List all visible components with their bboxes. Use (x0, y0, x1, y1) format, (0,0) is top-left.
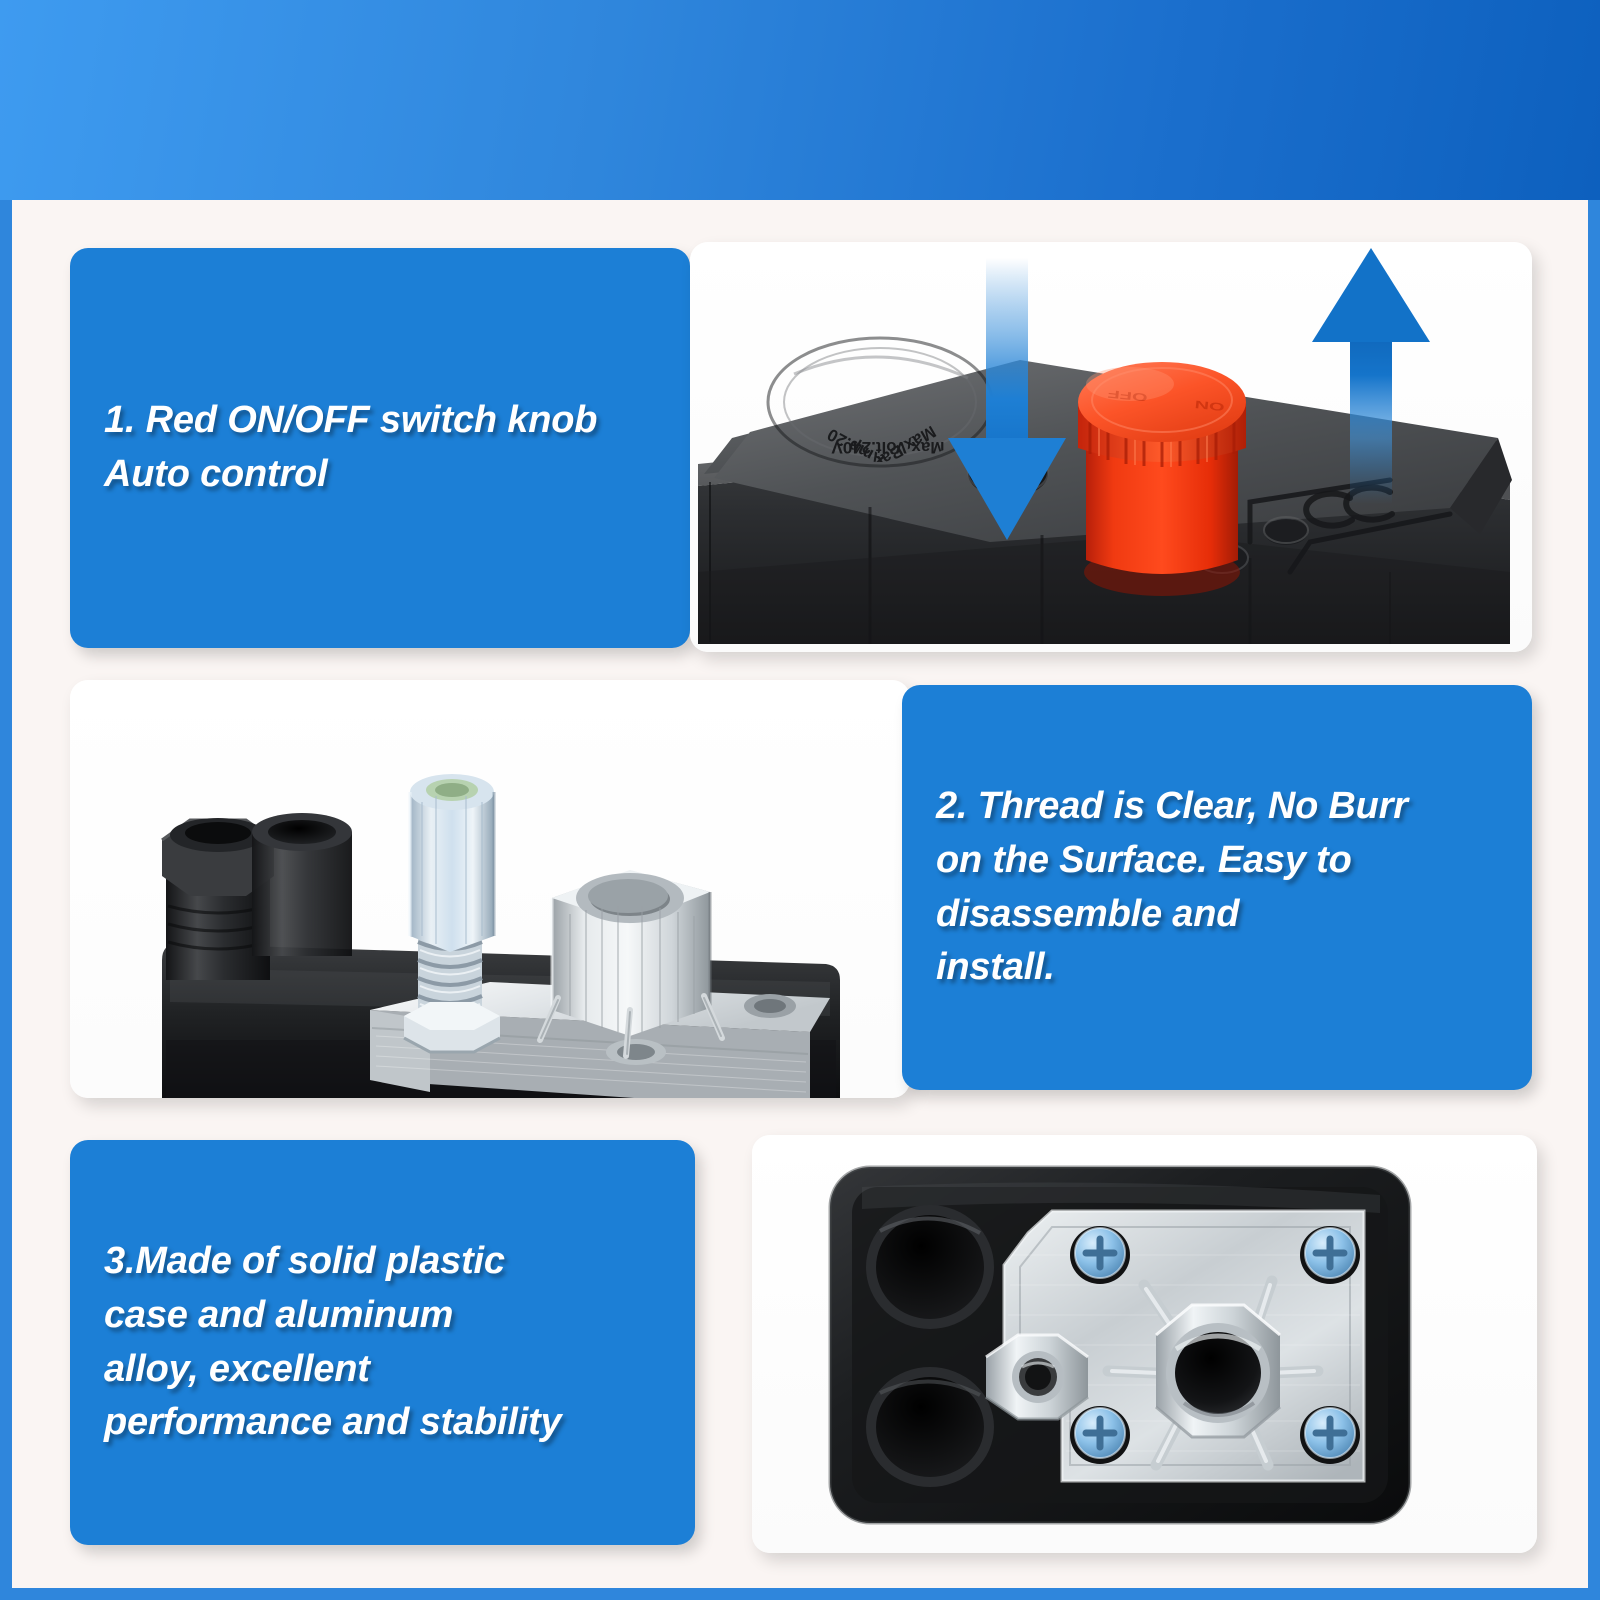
feature-row-3: 3.Made of solid plastic case and aluminu… (12, 1130, 1588, 1550)
phillips-screw-bottom-left (1070, 1406, 1130, 1464)
content-canvas: 1. Red ON/OFF switch knob Auto control (12, 200, 1588, 1588)
feature-callout-1-text: 1. Red ON/OFF switch knob Auto control (70, 394, 631, 502)
bottom-view-photo (752, 1135, 1537, 1553)
phillips-screw-bottom-right (1300, 1406, 1360, 1464)
cable-gland-hole-top (866, 1205, 994, 1329)
hex-nut (986, 1335, 1088, 1419)
feature-callout-2: 2. Thread is Clear, No Burr on the Surfa… (902, 685, 1532, 1090)
phillips-screw-top-left (1070, 1226, 1130, 1284)
threaded-bolt (404, 774, 500, 1052)
page-header: PRODUCT FEATURE ANALYSIS (0, 0, 1600, 200)
cable-gland-hole-bottom (866, 1367, 994, 1487)
feature-row-2: 2. Thread is Clear, No Burr on the Surfa… (12, 675, 1588, 1100)
page-title: PRODUCT FEATURE ANALYSIS (0, 48, 1600, 152)
red-onoff-knob: OFF ON (1078, 362, 1246, 596)
infographic-page: PRODUCT FEATURE ANALYSIS 1. Red ON/OFF s… (0, 0, 1600, 1600)
thread-detail-photo (70, 680, 910, 1098)
page-title-text: PRODUCT FEATURE ANALYSIS (90, 48, 1510, 152)
feature-callout-2-text: 2. Thread is Clear, No Burr on the Surfa… (902, 780, 1442, 996)
phillips-screw-top-right (1300, 1226, 1360, 1284)
red-onoff-knob-photo: Max.Volt.240V Amp.20 Max.Bar (690, 242, 1532, 652)
feature-callout-1: 1. Red ON/OFF switch knob Auto control (70, 248, 690, 648)
feature-callout-3-text: 3.Made of solid plastic case and aluminu… (70, 1235, 595, 1451)
feature-callout-3: 3.Made of solid plastic case and aluminu… (70, 1140, 695, 1545)
cable-gland-right (252, 813, 352, 956)
feature-row-1: 1. Red ON/OFF switch knob Auto control (12, 200, 1588, 650)
